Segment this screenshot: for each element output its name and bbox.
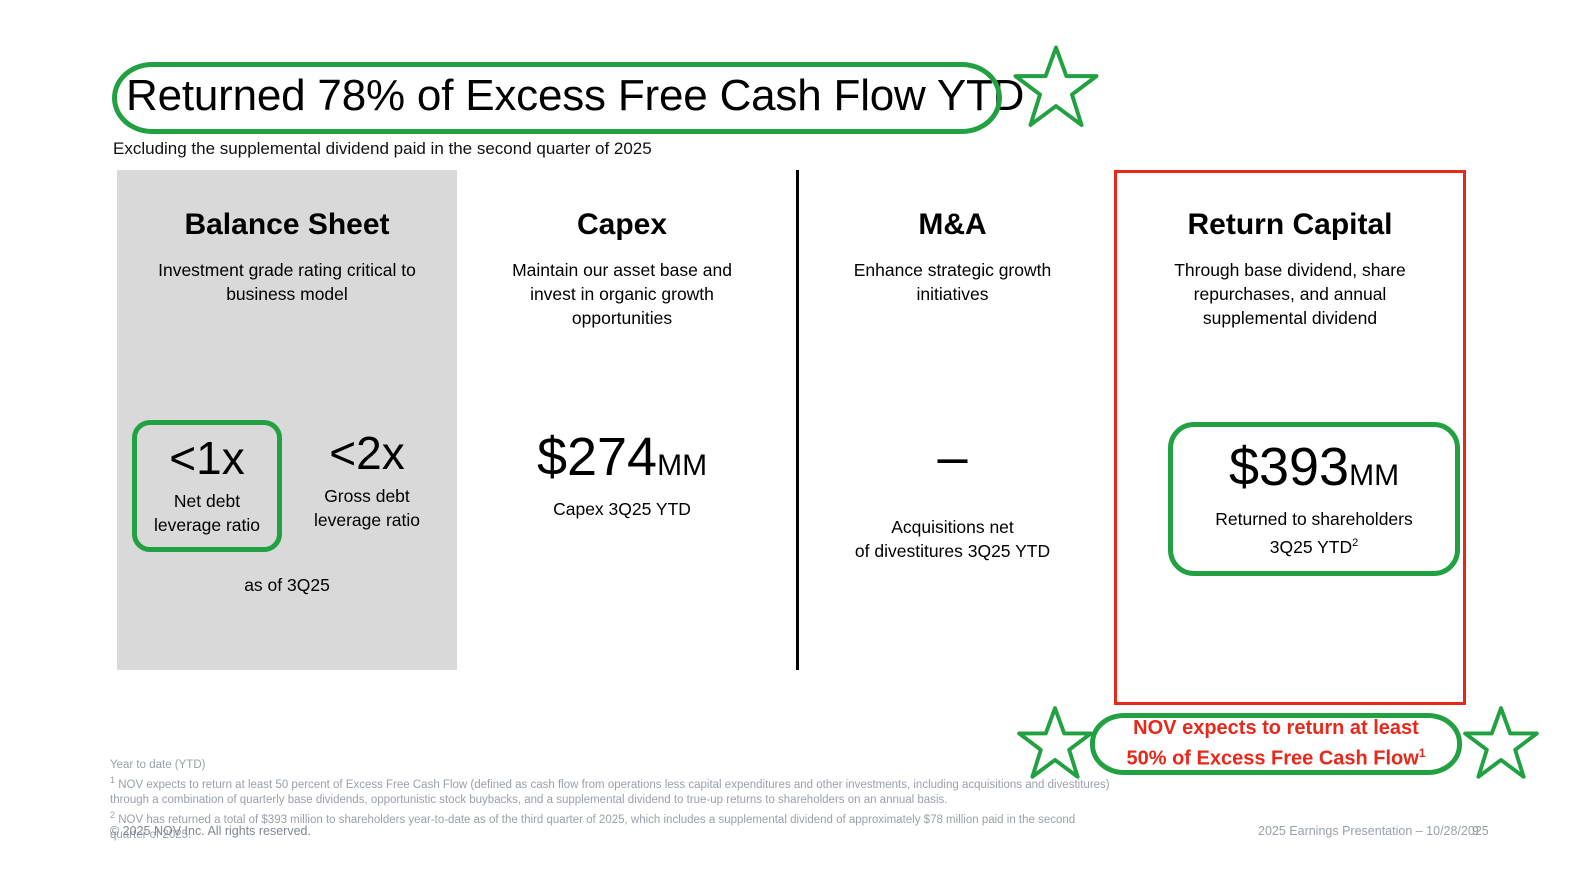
metric-value-return: $393 [1229,437,1349,497]
callout-return-expectation: NOV expects to return at least50% of Exc… [1090,713,1462,775]
metric-unit-capex: MM [657,449,707,482]
metric-caption-ma: Acquisitions net of divestitures 3Q25 YT… [830,515,1075,563]
column-heading-ma: M&A [830,206,1075,244]
callout-superscript: 1 [1419,746,1426,760]
metric-caption-return-superscript: 2 [1352,537,1358,549]
slide-subtitle: Excluding the supplemental dividend paid… [113,138,652,160]
slide-title-group: Returned 78% of Excess Free Cash Flow YT… [112,62,1002,134]
stat-value-gross-debt: <2x [296,426,438,480]
metric-caption-return-line1: Returned to shareholders [1177,507,1451,531]
metric-caption-capex: Capex 3Q25 YTD [487,497,757,521]
callout-line2: 50% of Excess Free Cash Flow [1126,748,1418,770]
callout-line1: NOV expects to return at least [1133,717,1419,739]
stat-value-net-debt: <1x [141,431,273,485]
balance-sheet-as-of: as of 3Q25 [117,575,457,596]
star-icon-title [1012,44,1100,132]
metric-unit-return: MM [1349,459,1399,492]
metric-value-ma: – [830,425,1075,489]
presentation-footer: 2025 Earnings Presentation – 10/28/2025 [1258,824,1489,838]
stat-net-debt-leverage: <1x Net debt leverage ratio [132,420,282,552]
stat-label-gross-debt: Gross debt leverage ratio [296,484,438,532]
metric-value-capex: $274 [537,427,657,487]
metric-value-return-group: $393MM [1177,435,1451,499]
stat-gross-debt-leverage: <2x Gross debt leverage ratio [292,420,442,552]
metric-caption-return-line2: 3Q25 YTD2 [1177,531,1451,559]
column-description-return-capital: Through base dividend, share repurchases… [1130,258,1450,330]
column-description-balance-sheet: Investment grade rating critical to busi… [117,258,457,306]
footnote-1-text: NOV expects to return at least 50 percen… [110,779,1110,806]
page-number: 9 [1472,824,1479,838]
balance-sheet-stats: <1x Net debt leverage ratio <2x Gross de… [117,420,457,552]
metric-ma: – Acquisitions net of divestitures 3Q25 … [830,425,1075,563]
column-divider [796,170,799,670]
metric-value-capex-group: $274MM [487,425,757,489]
column-description-ma: Enhance strategic growth initiatives [830,258,1075,306]
callout-text: NOV expects to return at least50% of Exc… [1126,716,1425,772]
metric-caption-return-line2-text: 3Q25 YTD [1270,537,1352,557]
column-description-capex: Maintain our asset base and invest in or… [487,258,757,330]
footnote-1: 1 NOV expects to return at least 50 perc… [110,773,1110,808]
metric-capex: $274MM Capex 3Q25 YTD [487,425,757,521]
star-icon-callout-right [1462,705,1540,783]
footnote-intro: Year to date (YTD) [110,758,1110,773]
column-heading-return-capital: Return Capital [1130,206,1450,244]
stat-label-net-debt: Net debt leverage ratio [141,489,273,537]
column-heading-balance-sheet: Balance Sheet [117,206,457,244]
metric-return-capital: $393MM Returned to shareholders 3Q25 YTD… [1168,422,1460,576]
column-heading-capex: Capex [487,206,757,244]
copyright-notice: © 2025 NOV Inc. All rights reserved. [110,824,311,838]
page-title: Returned 78% of Excess Free Cash Flow YT… [126,64,1024,128]
